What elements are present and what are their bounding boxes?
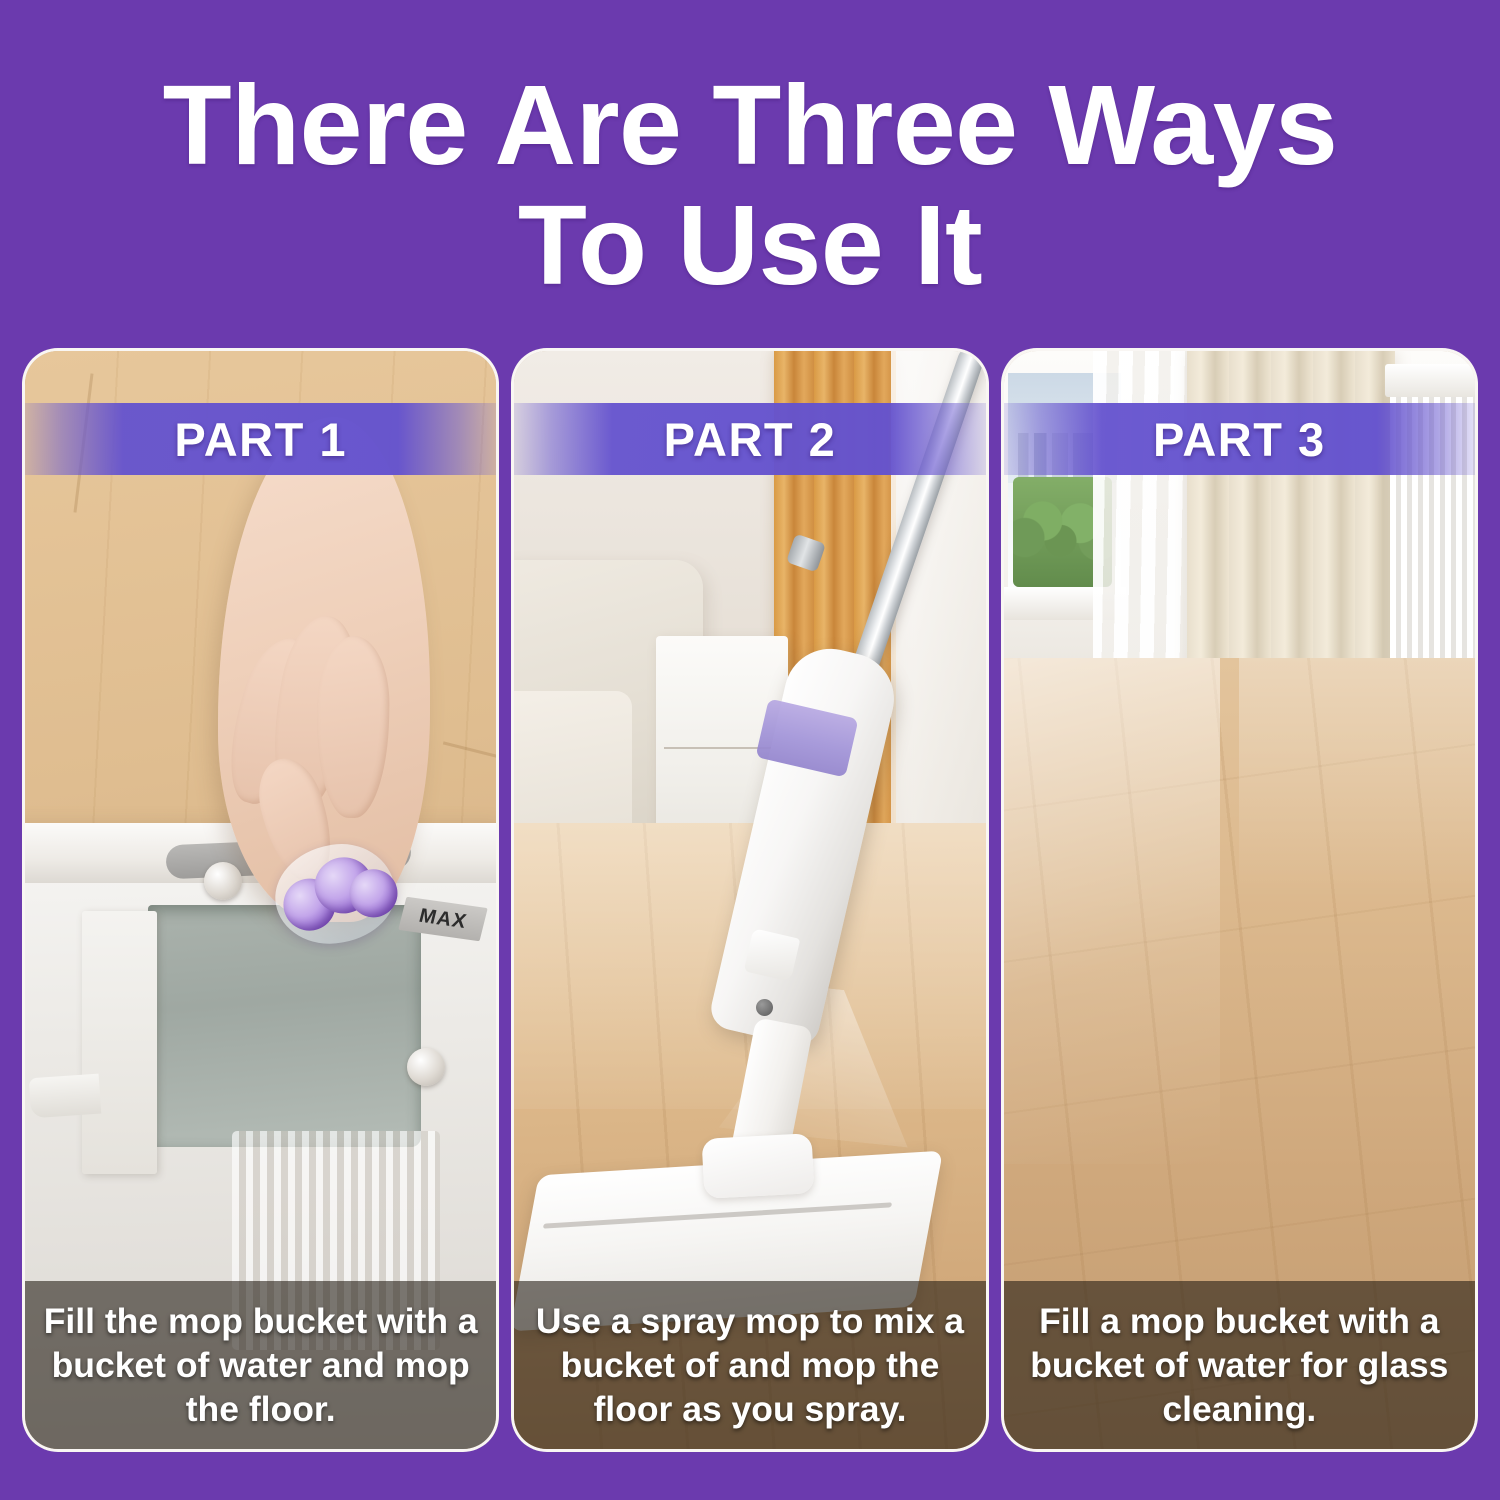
max-label-text: MAX	[417, 905, 470, 934]
part-badge-2-label: PART 2	[664, 412, 837, 467]
caption-bar-1: Fill the mop bucket with a bucket of wat…	[25, 1281, 496, 1449]
page-title: There Are Three Ways To Use It	[0, 66, 1500, 306]
part-badge-2: PART 2	[511, 403, 988, 475]
bucket-knob-icon	[407, 1048, 445, 1086]
trigger-pin-icon	[756, 999, 773, 1016]
sheer-curtain	[1093, 351, 1197, 680]
bucket-spout	[28, 1073, 101, 1118]
caption-bar-2: Use a spray mop to mix a bucket of and m…	[514, 1281, 985, 1449]
part-badge-1: PART 1	[22, 403, 499, 475]
detergent-pod	[267, 835, 402, 952]
mop-head-swivel-clip	[701, 1133, 814, 1199]
floor-gloss-reflection	[1004, 658, 1221, 1163]
part-badge-3-label: PART 3	[1153, 412, 1326, 467]
steps-panel-group: MAX PART 1 Fill the mop bucket with a bu…	[22, 348, 1478, 1452]
caption-bar-3: Fill a mop bucket with a bucket of water…	[1004, 1281, 1475, 1449]
step-panel-part-2[interactable]: PART 2 Use a spray mop to mix a bucket o…	[511, 348, 988, 1452]
title-line-1: There Are Three Ways	[0, 66, 1500, 186]
part-badge-1-label: PART 1	[174, 412, 347, 467]
step-panel-part-1[interactable]: MAX PART 1 Fill the mop bucket with a bu…	[22, 348, 499, 1452]
part-badge-3: PART 3	[1001, 403, 1478, 475]
bucket-inner-divider	[82, 911, 157, 1175]
bucket-knob-icon	[204, 862, 242, 900]
caption-text-1: Fill the mop bucket with a bucket of wat…	[39, 1299, 482, 1431]
step-panel-part-3[interactable]: PART 3 Fill a mop bucket with a bucket o…	[1001, 348, 1478, 1452]
caption-text-2: Use a spray mop to mix a bucket of and m…	[528, 1299, 971, 1431]
floor-sheen	[1239, 658, 1475, 900]
radiator-top-cap	[1385, 364, 1475, 397]
title-line-2: To Use It	[0, 186, 1500, 306]
caption-text-3: Fill a mop bucket with a bucket of water…	[1018, 1299, 1461, 1431]
